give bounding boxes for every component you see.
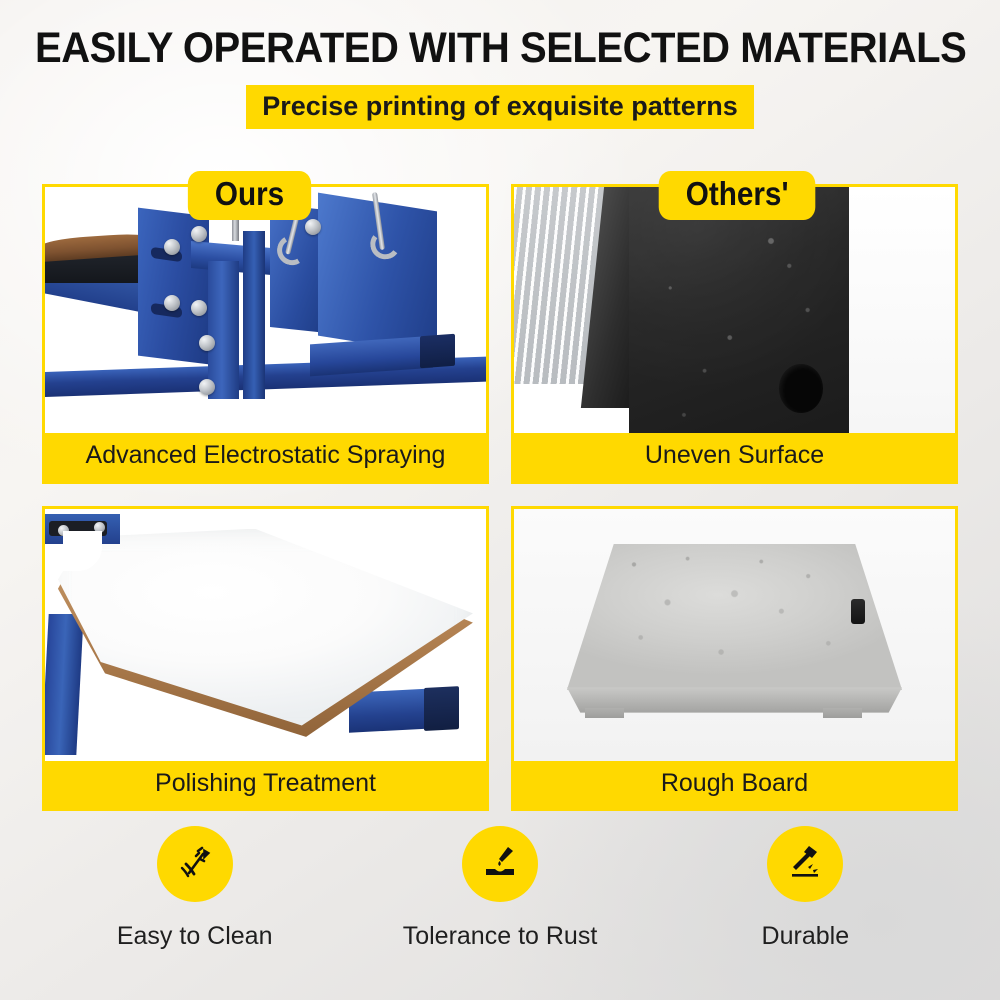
card-caption: Rough Board [514,761,955,809]
feature-row: Easy to Clean Tolerance to Rust [42,826,958,951]
press-post-rear [243,231,265,398]
feature-label: Tolerance to Rust [403,922,598,951]
comparison-card-ours-polishing: Polishing Treatment [42,506,489,812]
hex-bolt [199,335,215,351]
frame-leg-left [45,614,84,755]
board-black-clip [851,599,864,624]
dark-rough-slab [629,187,858,433]
board-foot [823,708,863,718]
comparison-card-ours-spraying: Ours [42,184,489,484]
photo-blue-press-frame [45,187,486,433]
spray-cleaning-icon [173,840,217,889]
hex-bolt [191,226,207,242]
press-post-front [208,261,239,399]
hex-bolt [164,239,180,255]
slab-hole [779,364,823,413]
card-caption: Polishing Treatment [45,761,486,809]
comparison-grid: Ours [42,184,958,811]
page-title: EASILY OPERATED WITH SELECTED MATERIALS [35,26,965,71]
comparison-card-others-rough: Rough Board [511,506,958,812]
badge-ours: Ours [188,171,311,220]
photo-smooth-white-platen [45,509,486,761]
card-caption: Uneven Surface [514,433,955,481]
feature-label: Durable [762,922,850,951]
card-caption: Advanced Electrostatic Spraying [45,433,486,481]
feature-icon-badge [157,826,233,902]
hammer-strike-icon [783,840,827,889]
page-subtitle: Precise printing of exquisite patterns [246,85,754,129]
hex-bolt [191,300,207,316]
frame-leg-cap [424,686,459,731]
badge-others: Others' [659,171,816,220]
feature-tolerance-to-rust: Tolerance to Rust [347,826,652,951]
subtitle-container: Precise printing of exquisite patterns [0,85,1000,129]
photo-uneven-dark-surface [514,187,955,433]
feature-durable: Durable [653,826,958,951]
photo-background [849,187,955,433]
comparison-card-others-uneven: Others' Uneven Surface [511,184,958,484]
feature-easy-to-clean: Easy to Clean [42,826,347,951]
feature-label: Easy to Clean [117,922,273,951]
feature-icon-badge [462,826,538,902]
photo-rough-gray-board [514,509,955,761]
page-header: EASILY OPERATED WITH SELECTED MATERIALS … [0,0,1000,129]
board-foot [585,708,625,718]
dropper-drip-icon [478,840,522,889]
press-tube-cap [420,333,455,367]
feature-icon-badge [767,826,843,902]
